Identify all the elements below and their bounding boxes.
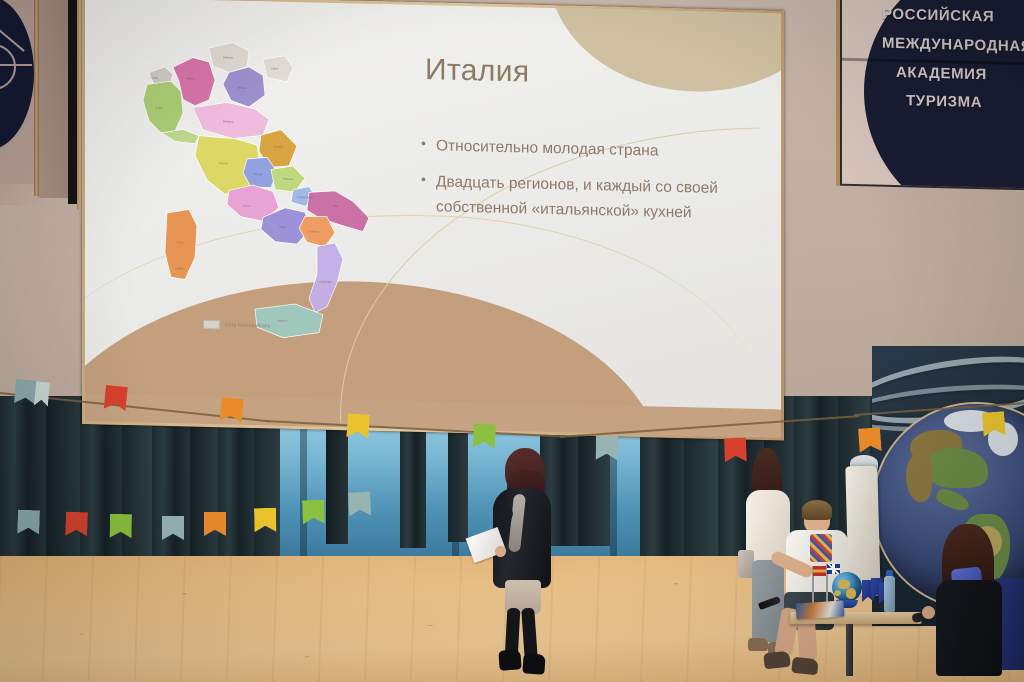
banner-line: МЕЖДУНАРОДНАЯ [882, 29, 1024, 62]
presenter-boot [522, 653, 545, 674]
united-kingdom-flag-icon [827, 564, 840, 574]
svg-text:Verona: Verona [237, 86, 246, 90]
left-logo-panel [0, 0, 34, 184]
seated-woman-hand [922, 606, 935, 619]
svg-text:Bologna: Bologna [223, 119, 234, 123]
svg-text:Cagliari: Cagliari [175, 266, 185, 270]
svg-text:Bolzano: Bolzano [223, 55, 234, 59]
legend-swatch-icon [203, 320, 220, 329]
presentation-photo-scene: Aosta Torino Milano Bolzano Verona Udine… [0, 0, 1024, 682]
svg-text:Milano: Milano [187, 76, 196, 80]
slide-bullet-list: Относительно молодая страна Двадцать рег… [421, 133, 751, 238]
presenter-hand-lower [495, 546, 506, 557]
svg-text:Aosta: Aosta [151, 76, 159, 80]
seated-woman [928, 524, 1024, 682]
svg-text:Palermo: Palermo [277, 319, 288, 323]
slide-bullet-item: Относительно молодая страна [421, 133, 751, 166]
desk-globe [832, 572, 862, 602]
brochures-stack [796, 600, 845, 619]
presenter-boot [498, 649, 521, 670]
bunting-flag [104, 385, 128, 411]
map-legend: Città Metropolitane [203, 320, 271, 331]
seated-woman-jacket [936, 580, 1002, 676]
bunting-flag [982, 411, 1006, 436]
banner-line: РОССИЙСКАЯ [882, 1, 1024, 34]
svg-text:Napoli: Napoli [279, 225, 287, 229]
svg-text:Roma: Roma [243, 204, 251, 208]
svg-text:Udine: Udine [271, 66, 279, 70]
svg-text:Pescara: Pescara [283, 177, 294, 181]
bunting-flag [220, 397, 244, 423]
table-leg [846, 624, 853, 676]
man-lanyard [810, 534, 832, 562]
spain-flag-icon [813, 566, 826, 576]
slide-decor-blob-top [549, 0, 781, 95]
svg-text:Catanzaro: Catanzaro [319, 280, 332, 284]
banner-line: АКАДЕМИЯ [882, 58, 1024, 91]
svg-text:Torino: Torino [155, 106, 163, 110]
slide-bullet-item: Двадцать регионов, и каждый со своей соб… [421, 169, 751, 227]
bunting-flag [858, 427, 882, 452]
svg-text:Bari: Bari [333, 204, 338, 208]
svg-text:Ancona: Ancona [273, 145, 283, 149]
academy-banner: РОССИЙСКАЯ МЕЖДУНАРОДНАЯ АКАДЕМИЯ ТУРИЗМ… [836, 0, 1024, 190]
svg-text:Firenze: Firenze [219, 161, 229, 165]
academy-banner-inner: РОССИЙСКАЯ МЕЖДУНАРОДНАЯ АКАДЕМИЯ ТУРИЗМ… [842, 0, 1024, 188]
screen-left-gold-trim [77, 0, 81, 210]
svg-text:Nuoro: Nuoro [177, 240, 185, 244]
svg-text:Campobasso: Campobasso [297, 195, 314, 199]
italy-map: Aosta Torino Milano Bolzano Verona Udine… [137, 16, 397, 347]
slide-title: Италия [425, 53, 530, 89]
wall-strip [39, 0, 69, 198]
academy-banner-text: РОССИЙСКАЯ МЕЖДУНАРОДНАЯ АКАДЕМИЯ ТУРИЗМ… [882, 1, 1024, 120]
svg-text:Perugia: Perugia [253, 172, 263, 176]
man-shoe [763, 651, 791, 670]
bunting-flag [34, 381, 50, 406]
bunting-flag [596, 436, 618, 460]
banner-line: ТУРИЗМА [882, 87, 1024, 120]
man-hair [802, 500, 832, 520]
legend-label: Città Metropolitane [225, 322, 271, 329]
attendee-shoe [748, 638, 768, 651]
water-bottle [884, 576, 895, 612]
man-shoe [791, 657, 819, 676]
presenter-leg [521, 608, 538, 661]
bunting-flag [473, 423, 496, 448]
bunting-flag [346, 413, 370, 438]
svg-text:Potenza: Potenza [309, 229, 320, 233]
presenter-person [487, 448, 561, 668]
emblem-bar-icon [0, 64, 32, 66]
